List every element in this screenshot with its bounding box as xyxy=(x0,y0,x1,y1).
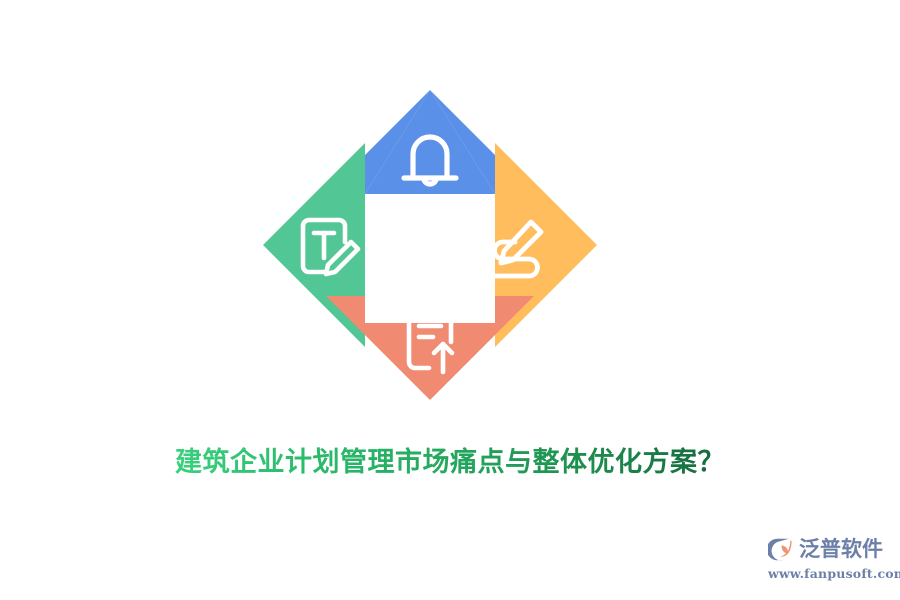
poster-canvas: 建筑企业计划管理市场痛点与整体优化方案？ 泛普软件 www.fanpusoft.… xyxy=(0,0,900,600)
four-segment-diamond-diagram xyxy=(263,90,597,400)
fanpu-swoosh-logo-icon xyxy=(768,536,795,563)
page-title: 建筑企业计划管理市场痛点与整体优化方案？ xyxy=(0,443,900,483)
brand-url[interactable]: www.fanpusoft.com xyxy=(768,566,892,581)
diamond-center-square xyxy=(365,194,495,323)
diamond-svg xyxy=(263,90,597,400)
brand-name: 泛普软件 xyxy=(799,536,883,563)
brand-logo[interactable]: 泛普软件 www.fanpusoft.com xyxy=(768,534,892,584)
page-title-text: 建筑企业计划管理市场痛点与整体优化方案？ xyxy=(175,443,725,483)
brand-logo-row: 泛普软件 xyxy=(768,534,892,564)
